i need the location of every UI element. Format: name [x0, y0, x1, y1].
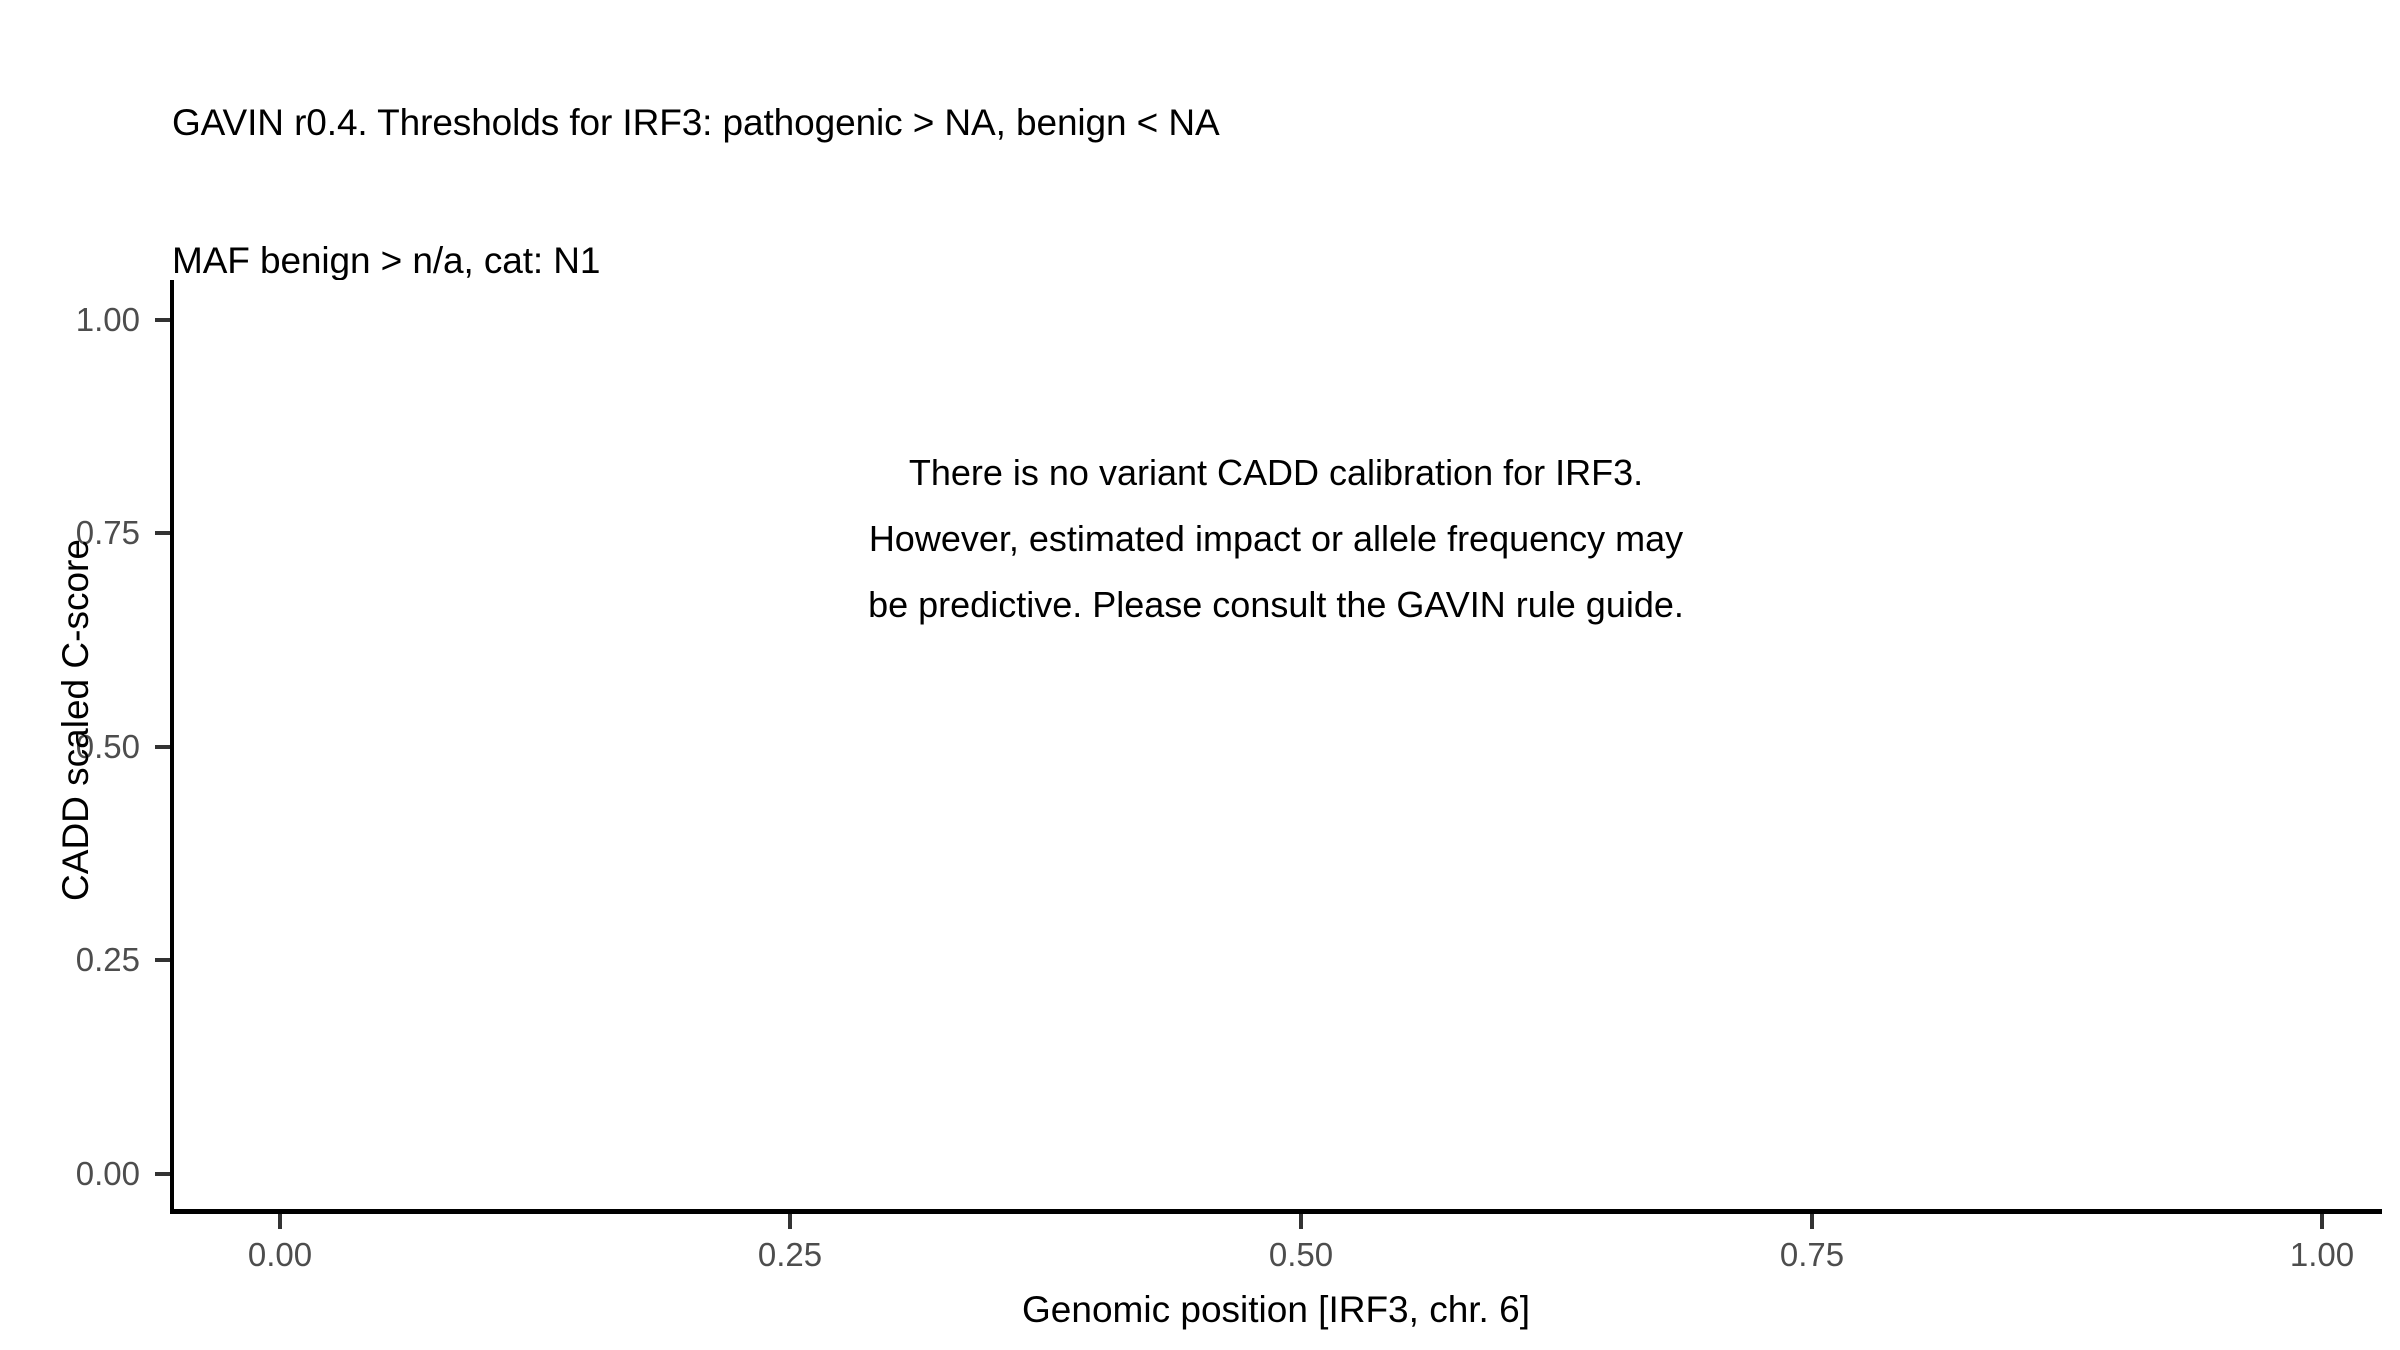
- x-tick-mark-0.75: [1810, 1214, 1814, 1229]
- x-tick-label-0.50: 0.50: [1221, 1238, 1381, 1271]
- figure-canvas: GAVIN r0.4. Thresholds for IRF3: pathoge…: [0, 0, 2400, 1350]
- y-axis-title: CADD scaled C-score: [56, 254, 96, 1186]
- plot-panel: [172, 280, 2380, 1212]
- x-tick-label-1.00: 1.00: [2242, 1238, 2400, 1271]
- y-tick-mark-0.75: [155, 531, 170, 535]
- y-tick-mark-0.25: [155, 958, 170, 962]
- x-tick-label-0.75: 0.75: [1732, 1238, 1892, 1271]
- x-axis-line: [170, 1209, 2382, 1214]
- x-tick-mark-1.00: [2320, 1214, 2324, 1229]
- x-tick-label-0.25: 0.25: [710, 1238, 870, 1271]
- x-tick-mark-0.00: [278, 1214, 282, 1229]
- plot-title-line-1: GAVIN r0.4. Thresholds for IRF3: pathoge…: [172, 100, 2172, 146]
- panel-annotation-line-1: There is no variant CADD calibration for…: [172, 440, 2380, 506]
- x-tick-mark-0.50: [1299, 1214, 1303, 1229]
- y-tick-mark-1.00: [155, 318, 170, 322]
- y-tick-mark-0.50: [155, 745, 170, 749]
- x-tick-mark-0.25: [788, 1214, 792, 1229]
- panel-annotation: There is no variant CADD calibration for…: [172, 440, 2380, 638]
- y-axis-line: [170, 280, 174, 1214]
- x-axis-title: Genomic position [IRF3, chr. 6]: [172, 1290, 2380, 1330]
- x-tick-label-0.00: 0.00: [200, 1238, 360, 1271]
- y-tick-mark-0.00: [155, 1172, 170, 1176]
- panel-annotation-line-2: However, estimated impact or allele freq…: [172, 506, 2380, 572]
- panel-annotation-line-3: be predictive. Please consult the GAVIN …: [172, 572, 2380, 638]
- plot-title-line-2: MAF benign > n/a, cat: N1: [172, 238, 2172, 284]
